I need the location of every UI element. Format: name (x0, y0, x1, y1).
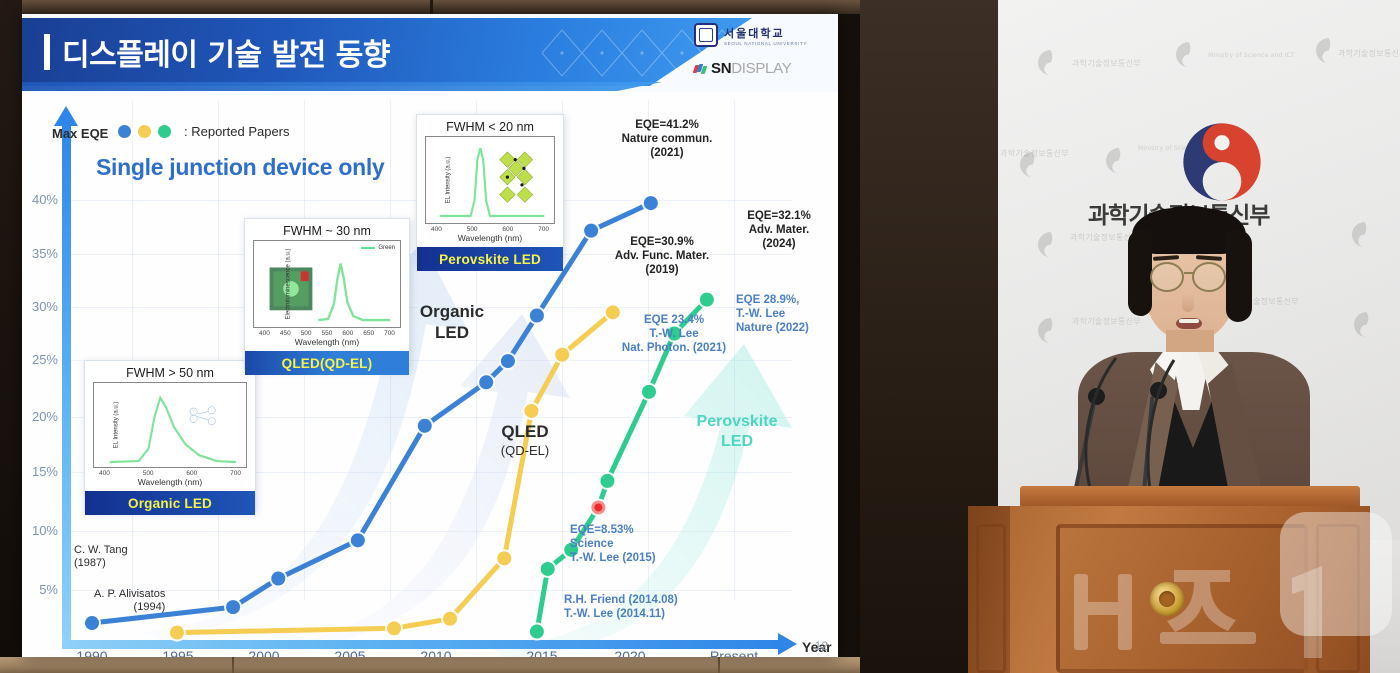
series-point (271, 571, 285, 585)
backdrop-text-ko-6: 과학기술정보통신부 (1072, 316, 1141, 327)
speaker-glasses-bridge (1184, 272, 1194, 274)
speaker-glasses-right-lens (1192, 262, 1226, 292)
speaker-nose (1182, 294, 1194, 312)
projection-panel: 디스플레이 기술 발전 동향 서울대학교 SEOUL NATIONAL UNIV… (0, 0, 860, 673)
watermark-badge (1280, 512, 1392, 636)
speaker-hair-right (1226, 230, 1252, 322)
snu-logo: 서울대학교 SEOUL NATIONAL UNIVERSITY (694, 20, 824, 50)
speaker-glasses-left-lens (1150, 262, 1184, 292)
series-point (479, 375, 493, 389)
inset-qled-xlabel: Wavelength (nm) (245, 337, 409, 351)
eqe-trend-chart: Max EQE Year 40% 35% 30% 25% 20% 15% 10%… (22, 92, 838, 657)
series-point (170, 626, 184, 640)
series-point (524, 404, 538, 418)
series-point (387, 621, 401, 635)
series-point (530, 625, 544, 639)
inset-organic-led: FWHM > 50 nm EL Intensity (a.u.) 40050 (84, 360, 256, 512)
inset-perovskite-ylabel: EL Intensity (a.u.) (445, 157, 451, 204)
slide-title: 디스플레이 기술 발전 동향 (62, 30, 390, 74)
inset-organic-ylabel: EL Intensity (a.u.) (113, 402, 119, 449)
series-point (700, 293, 714, 307)
category-label-perovskite: Perovskite LED (682, 412, 792, 451)
podium-side-panel (976, 524, 1006, 673)
inset-organic-band: Organic LED (85, 491, 255, 515)
snu-name-en: SEOUL NATIONAL UNIVERSITY (724, 41, 807, 46)
annotation-nature-commun: EQE=41.2% Nature commun. (2021) (602, 119, 732, 160)
press-conference-photo: 과학기술정보통신부 Ministry of Science and ICT 과학… (860, 0, 1400, 673)
series-point (501, 354, 515, 368)
inset-perovskite-fwhm: FWHM < 20 nm (417, 115, 563, 136)
logo-cluster: 서울대학교 SEOUL NATIONAL UNIVERSITY SNDISPLA… (694, 20, 824, 84)
inset-perovskite-led: FWHM < 20 nm EL Intensity (a.u.) (416, 114, 564, 264)
podium-gold-emblem-icon (1150, 582, 1184, 616)
inset-qled: FWHM ~ 30 nm Electroluminescence (a.u.) … (244, 218, 410, 370)
slide-page-number: 12 (815, 639, 828, 653)
inset-perovskite-band: Perovskite LED (417, 247, 563, 271)
annotation-adv-mater: EQE=32.1% Adv. Mater. (2024) (724, 210, 834, 251)
slide-header: 디스플레이 기술 발전 동향 서울대학교 SEOUL NATIONAL UNIV… (22, 14, 838, 92)
series-point (226, 600, 240, 614)
inset-qled-ticks: 400450 500550 600650 700 (255, 330, 399, 337)
inset-qled-spectrum (254, 241, 400, 329)
floor-strip (0, 657, 860, 673)
series-point (443, 612, 457, 626)
backdrop-text-ko-3: 과학기술정보통신부 (1000, 148, 1069, 159)
podium-top (1020, 486, 1360, 508)
series-point-highlighted (593, 502, 604, 513)
inset-perovskite-plot: EL Intensity (a.u.) (425, 136, 555, 224)
series-point (530, 308, 544, 322)
backdrop-text-en-1: Ministry of Science and ICT (1208, 52, 1295, 59)
presentation-slide: 디스플레이 기술 발전 동향 서울대학교 SEOUL NATIONAL UNIV… (22, 14, 838, 657)
inset-perovskite-ticks: 400500 600700 (427, 226, 553, 233)
snu-name-ko: 서울대학교 (724, 25, 807, 41)
annotation-science-2015: EQE=8.53% Science T.-W. Lee (2015) (570, 524, 690, 565)
series-point (418, 419, 432, 433)
speaker-hair-left (1128, 230, 1152, 316)
inset-organic-fwhm: FWHM > 50 nm (85, 361, 255, 382)
series-point (642, 385, 656, 399)
annotation-nature-2022: EQE 28.9%, T.-W. Lee Nature (2022) (736, 294, 836, 335)
series-point (351, 533, 365, 547)
title-accent-bar (44, 34, 50, 70)
annotation-alivisatos: A. P. Alivisatos (1994) (94, 588, 165, 614)
series-point (584, 224, 598, 238)
annotation-nat-photon: EQE 23.4% T.-W. Lee Nat. Photon. (2021) (614, 314, 734, 355)
annotation-friend-2014: R.H. Friend (2014.08) T.-W. Lee (2014.11… (564, 594, 724, 622)
inset-qled-fwhm: FWHM ~ 30 nm (245, 219, 409, 240)
sndisplay-mark-icon (694, 64, 707, 73)
inset-qled-ylabel: Electroluminescence (a.u.) (286, 248, 292, 319)
sndisplay-logo: SNDISPLAY (694, 55, 824, 81)
screenshot-root: 디스플레이 기술 발전 동향 서울대학교 SEOUL NATIONAL UNIV… (0, 0, 1400, 673)
snu-crest-icon (694, 23, 718, 47)
series-point (600, 474, 614, 488)
annotation-afm-2019: EQE=30.9% Adv. Func. Mater. (2019) (602, 236, 722, 277)
left-wall (0, 0, 22, 673)
category-label-organic: Organic LED (412, 302, 492, 343)
series-point (644, 196, 658, 210)
inset-organic-plot: EL Intensity (a.u.) (93, 382, 247, 468)
inset-perovskite-xlabel: Wavelength (nm) (417, 233, 563, 247)
ceiling-seam (430, 0, 433, 14)
series-point (497, 551, 511, 565)
series-point (541, 562, 555, 576)
inset-qled-plot: Electroluminescence (a.u.) Green (253, 240, 401, 328)
backdrop-text-ko-2: 과학기술정보통신부 (1338, 48, 1400, 59)
inset-organic-ticks: 400500 600700 (95, 470, 245, 477)
category-label-qled: QLED (QD-EL) (482, 422, 568, 459)
sndisplay-wordmark: SNDISPLAY (711, 60, 791, 77)
backdrop-text-ko-1: 과학기술정보통신부 (1072, 58, 1141, 69)
inset-qled-band: QLED(QD-EL) (245, 351, 409, 375)
annotation-tang: C. W. Tang (1987) (74, 544, 128, 570)
inset-organic-xlabel: Wavelength (nm) (85, 477, 255, 491)
inset-qled-series-legend: Green (361, 245, 395, 251)
speaker-mouth (1176, 318, 1202, 329)
series-point (85, 616, 99, 630)
series-point (555, 348, 569, 362)
taegeuk-emblem-icon (1180, 120, 1264, 204)
